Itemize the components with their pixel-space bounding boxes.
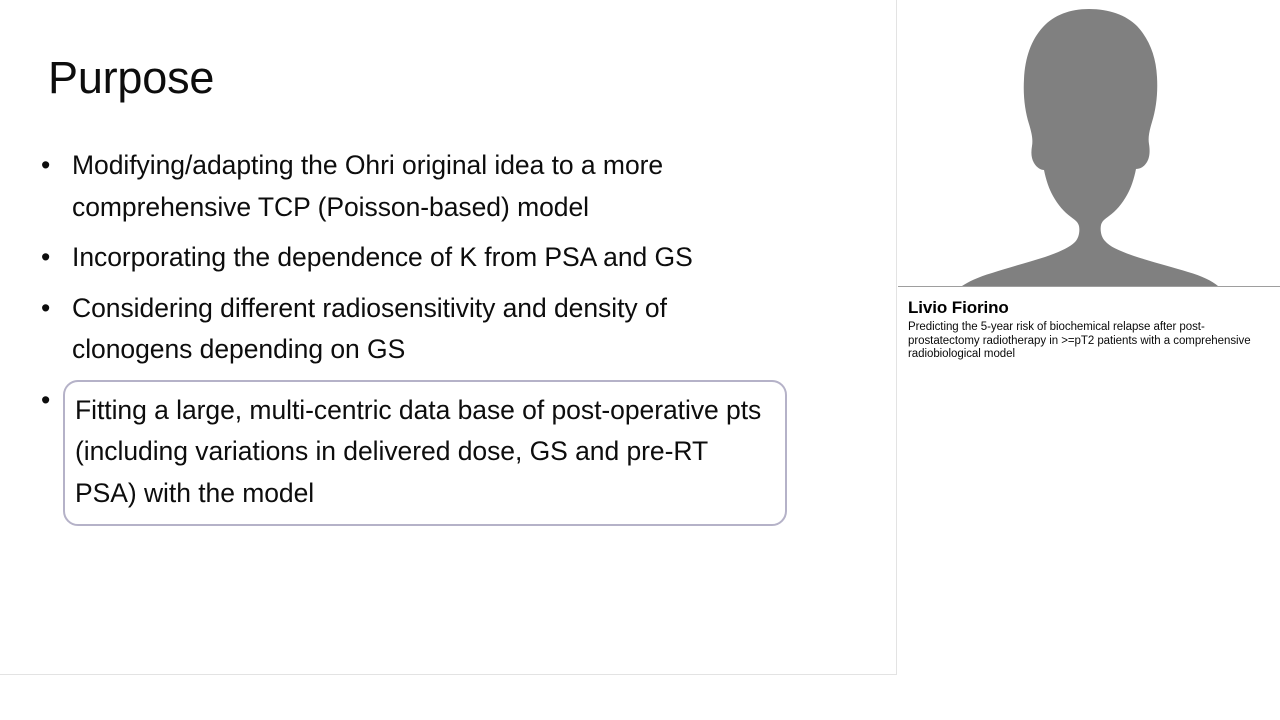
bullet-item: • Incorporating the dependence of K from… <box>33 237 793 279</box>
bullet-item-text-highlighted: Fitting a large, multi-centric data base… <box>63 380 787 527</box>
slide-panel: Purpose • Modifying/adapting the Ohri or… <box>0 0 897 675</box>
slide-bullet-list: • Modifying/adapting the Ohri original i… <box>33 145 793 535</box>
bullet-marker-icon: • <box>41 145 55 187</box>
speaker-info: Livio Fiorino Predicting the 5-year risk… <box>898 287 1280 362</box>
bullet-marker-icon: • <box>41 288 55 330</box>
bullet-item-text: Modifying/adapting the Ohri original ide… <box>72 145 793 228</box>
speaker-card: Livio Fiorino Predicting the 5-year risk… <box>898 0 1280 720</box>
speaker-photo <box>898 0 1280 287</box>
speaker-talk-title: Predicting the 5-year risk of biochemica… <box>908 321 1260 362</box>
bullet-item-text: Considering different radiosensitivity a… <box>72 288 793 371</box>
bullet-item: • Considering different radiosensitivity… <box>33 288 793 371</box>
person-silhouette-icon <box>898 0 1280 286</box>
speaker-name: Livio Fiorino <box>908 297 1268 318</box>
slide-title: Purpose <box>48 52 214 104</box>
bullet-item: • Modifying/adapting the Ohri original i… <box>33 145 793 228</box>
bullet-item-highlighted: • Fitting a large, multi-centric data ba… <box>33 380 793 527</box>
presentation-viewer: Purpose • Modifying/adapting the Ohri or… <box>0 0 1280 720</box>
bullet-marker-icon: • <box>41 380 55 422</box>
bullet-marker-icon: • <box>41 237 55 279</box>
bullet-item-text: Incorporating the dependence of K from P… <box>72 237 793 279</box>
